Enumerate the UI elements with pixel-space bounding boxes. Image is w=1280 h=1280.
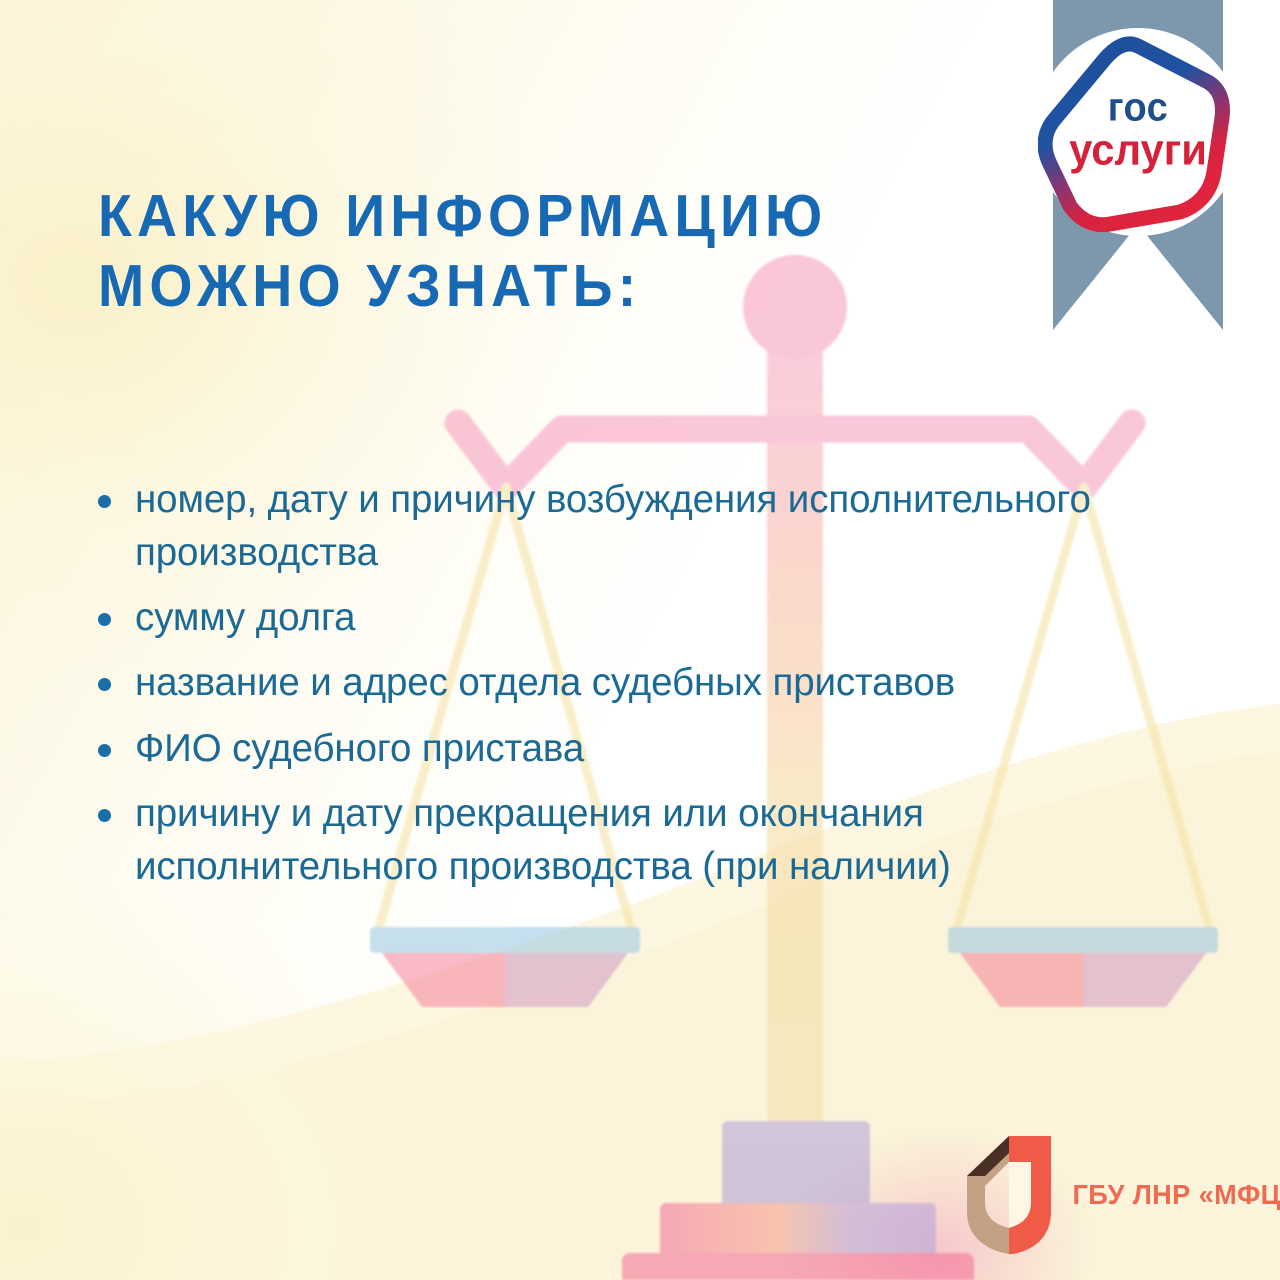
gosuslugi-logo: гос услуги: [1053, 0, 1223, 330]
list-item-label: номер, дату и причину возбуждения исполн…: [135, 473, 1225, 579]
gosuslugi-word-top: гос: [1048, 89, 1229, 127]
list-item: название и адрес отдела судебных пристав…: [98, 656, 1248, 709]
information-list: номер, дату и причину возбуждения исполн…: [98, 473, 1248, 905]
mfc-label: ГБУ ЛНР «МФЦ»: [1072, 1179, 1280, 1211]
list-item: сумму долга: [98, 591, 1248, 644]
list-item: ФИО судебного пристава: [98, 722, 1248, 775]
bullet-dot-icon: [98, 809, 111, 822]
mfc-shield-icon: [963, 1136, 1055, 1254]
mfc-logo: ГБУ ЛНР «МФЦ»: [963, 1136, 1280, 1254]
infographic-poster: КАКУЮ ИНФОРМАЦИЮ МОЖНО УЗНАТЬ: номер, да…: [0, 0, 1280, 1280]
list-item: причину и дату прекращения или окончания…: [98, 787, 1248, 893]
bullet-dot-icon: [98, 613, 111, 626]
list-item-label: название и адрес отдела судебных пристав…: [135, 656, 955, 709]
list-item-label: ФИО судебного пристава: [135, 722, 584, 775]
page-title: КАКУЮ ИНФОРМАЦИЮ МОЖНО УЗНАТЬ:: [98, 182, 944, 321]
bullet-dot-icon: [98, 744, 111, 757]
list-item: номер, дату и причину возбуждения исполн…: [98, 473, 1248, 579]
gosuslugi-wordmark: гос услуги: [1043, 89, 1233, 172]
list-item-label: сумму долга: [135, 591, 355, 644]
list-item-label: причину и дату прекращения или окончания…: [135, 787, 1225, 893]
gosuslugi-word-bottom: услуги: [1048, 130, 1229, 172]
bullet-dot-icon: [98, 678, 111, 691]
bullet-dot-icon: [98, 495, 111, 508]
